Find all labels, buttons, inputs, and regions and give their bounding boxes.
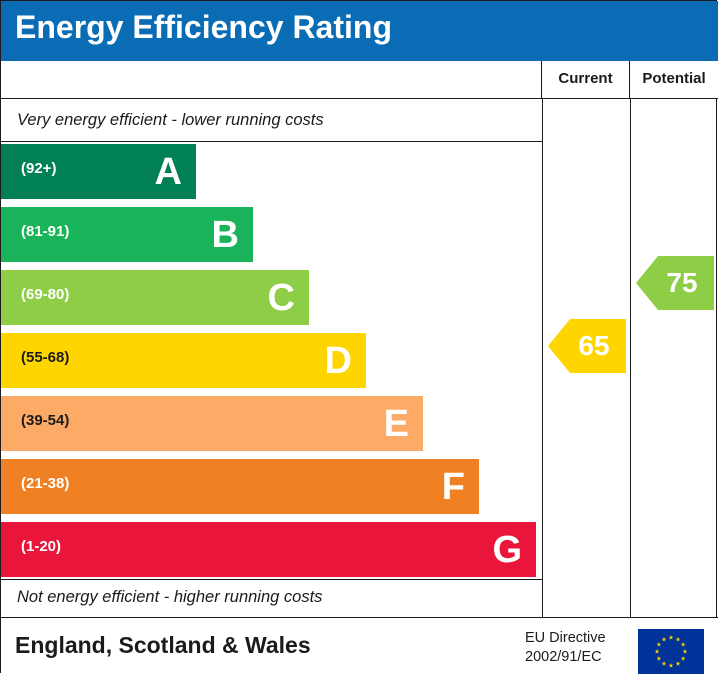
eu-directive-line2: 2002/91/EC bbox=[525, 648, 606, 667]
band-range-g: (1-20) bbox=[21, 538, 61, 555]
note-efficient: Very energy efficient - lower running co… bbox=[17, 111, 324, 130]
divider-potential bbox=[630, 99, 631, 617]
note-inefficient: Not energy efficient - higher running co… bbox=[17, 588, 322, 607]
band-letter-c: C bbox=[268, 272, 295, 324]
band-bar-f: (21-38) F bbox=[1, 459, 479, 514]
footer-bar: England, Scotland & Wales EU Directive 2… bbox=[1, 617, 718, 674]
eu-directive-text: EU Directive 2002/91/EC bbox=[525, 629, 606, 667]
band-bar-d: (55-68) D bbox=[1, 333, 366, 388]
band-range-f: (21-38) bbox=[21, 475, 69, 492]
column-header-potential: Potential bbox=[630, 61, 718, 99]
epc-certificate: Energy Efficiency Rating Current Potenti… bbox=[0, 0, 717, 673]
band-bar-a: (92+) A bbox=[1, 144, 196, 199]
band-bar-e: (39-54) E bbox=[1, 396, 423, 451]
column-header-blank bbox=[1, 61, 542, 99]
column-header-current: Current bbox=[542, 61, 630, 99]
band-letter-b: B bbox=[212, 209, 239, 261]
band-bar-c: (69-80) C bbox=[1, 270, 309, 325]
band-range-b: (81-91) bbox=[21, 223, 69, 240]
eu-directive-line1: EU Directive bbox=[525, 629, 606, 648]
band-letter-g: G bbox=[492, 524, 522, 576]
band-range-e: (39-54) bbox=[21, 412, 69, 429]
band-range-d: (55-68) bbox=[21, 349, 69, 366]
current-rating-marker: 65 bbox=[548, 319, 626, 373]
potential-rating-marker: 75 bbox=[636, 256, 714, 310]
column-header-current-label: Current bbox=[542, 70, 629, 87]
separator-bottom bbox=[1, 579, 542, 580]
separator-top bbox=[1, 141, 542, 142]
band-letter-f: F bbox=[442, 461, 465, 513]
chart-body: Very energy efficient - lower running co… bbox=[1, 99, 718, 617]
divider-current bbox=[542, 99, 543, 617]
page-title: Energy Efficiency Rating bbox=[15, 9, 392, 46]
potential-rating-value: 75 bbox=[656, 256, 708, 310]
band-bar-b: (81-91) B bbox=[1, 207, 253, 262]
band-range-c: (69-80) bbox=[21, 286, 69, 303]
footer-region: England, Scotland & Wales bbox=[15, 632, 311, 659]
eu-flag-icon bbox=[638, 629, 704, 674]
band-letter-a: A bbox=[155, 146, 182, 198]
current-rating-value: 65 bbox=[568, 319, 620, 373]
band-letter-d: D bbox=[325, 335, 352, 387]
band-bar-g: (1-20) G bbox=[1, 522, 536, 577]
band-range-a: (92+) bbox=[21, 160, 56, 177]
column-header-potential-label: Potential bbox=[630, 70, 718, 87]
band-letter-e: E bbox=[384, 398, 409, 450]
header-bar: Energy Efficiency Rating bbox=[1, 1, 718, 61]
